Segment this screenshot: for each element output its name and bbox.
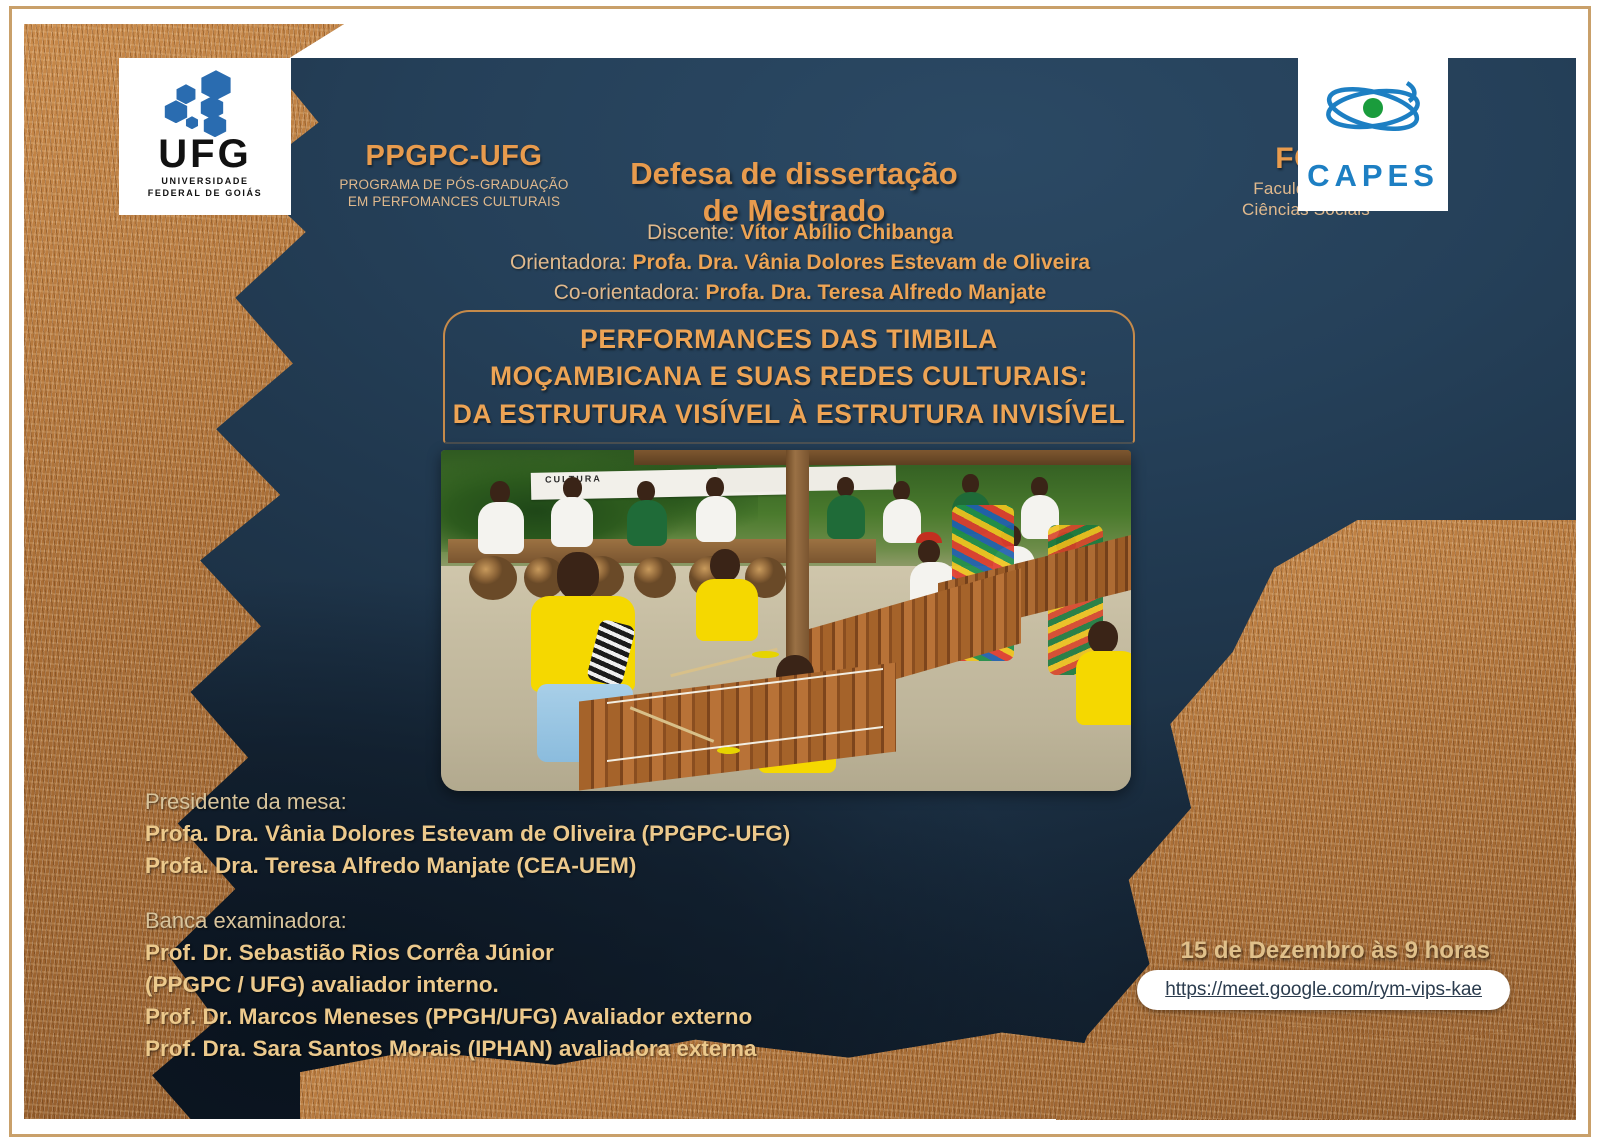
board-member-1: Prof. Dr. Sebastião Rios Corrêa Júnior xyxy=(145,937,865,969)
timbila-performance-photo: CULTURA xyxy=(441,450,1131,791)
dissertation-title-plate: PERFORMANCES DAS TIMBILA MOÇAMBICANA E S… xyxy=(443,310,1135,444)
coadvisor-name: Profa. Dra. Teresa Alfredo Manjate xyxy=(705,281,1046,304)
president-label: Presidente da mesa: xyxy=(145,785,865,818)
header-bar: UFG UNIVERSIDADE FEDERAL DE GOIÁS PPGPC-… xyxy=(24,58,1576,218)
board-member-3: Prof. Dra. Sara Santos Morais (IPHAN) av… xyxy=(145,1033,865,1065)
ufg-logo: UFG UNIVERSIDADE FEDERAL DE GOIÁS xyxy=(119,58,291,215)
student-line: Discente: Vítor Abílio Chibanga xyxy=(24,218,1576,248)
ppgpc-line1: PROGRAMA DE PÓS-GRADUAÇÃO xyxy=(324,176,584,193)
ppgpc-line2: EM PERFOMANCES CULTURAIS xyxy=(324,193,584,210)
dissertation-title-line1: PERFORMANCES DAS TIMBILA xyxy=(453,321,1126,359)
ufg-tagline-line1: UNIVERSIDADE xyxy=(148,176,262,187)
people-block: Discente: Vítor Abílio Chibanga Orientad… xyxy=(24,218,1576,307)
advisor-line: Orientadora: Profa. Dra. Vânia Dolores E… xyxy=(24,248,1576,278)
board-member-2: Prof. Dr. Marcos Meneses (PPGH/UFG) Aval… xyxy=(145,1001,865,1033)
dissertation-title-line3: DA ESTRUTURA VISÍVEL À ESTRUTURA INVISÍV… xyxy=(453,396,1126,434)
meet-link-button[interactable]: https://meet.google.com/rym-vips-kae xyxy=(1137,970,1510,1010)
advisor-name: Profa. Dra. Vânia Dolores Estevam de Oli… xyxy=(633,251,1091,274)
advisor-label: Orientadora: xyxy=(510,251,627,274)
coadvisor-line: Co-orientadora: Profa. Dra. Teresa Alfre… xyxy=(24,278,1576,308)
board-member-1-affiliation: (PPGPC / UFG) avaliador interno. xyxy=(145,969,865,1001)
poster-root: UFG UNIVERSIDADE FEDERAL DE GOIÁS PPGPC-… xyxy=(0,0,1600,1143)
president-name-1: Profa. Dra. Vânia Dolores Estevam de Oli… xyxy=(145,818,865,850)
ppgpc-acronym: PPGPC-UFG xyxy=(324,140,584,173)
board-label: Banca examinadora: xyxy=(145,904,865,937)
ppgpc-block: PPGPC-UFG PROGRAMA DE PÓS-GRADUAÇÃO EM P… xyxy=(324,140,584,211)
ufg-hex-mark-icon xyxy=(159,70,251,132)
president-name-2: Profa. Dra. Teresa Alfredo Manjate (CEA-… xyxy=(145,850,865,882)
credits-block: Presidente da mesa: Profa. Dra. Vânia Do… xyxy=(145,785,865,1065)
capes-wordmark: CAPES xyxy=(1307,158,1439,194)
coadvisor-label: Co-orientadora: xyxy=(554,281,700,304)
page-title-line1: Defesa de dissertação xyxy=(584,156,1004,193)
event-datetime: 15 de Dezembro às 9 horas xyxy=(1181,937,1490,965)
ufg-wordmark: UFG xyxy=(148,135,262,173)
capes-atom-icon xyxy=(1314,75,1432,149)
student-name: Vítor Abílio Chibanga xyxy=(740,221,953,244)
student-label: Discente: xyxy=(647,221,735,244)
dissertation-title-line2: MOÇAMBICANA E SUAS REDES CULTURAIS: xyxy=(453,358,1126,396)
capes-logo: CAPES xyxy=(1298,58,1448,211)
ufg-tagline-line2: FEDERAL DE GOIÁS xyxy=(148,188,262,199)
